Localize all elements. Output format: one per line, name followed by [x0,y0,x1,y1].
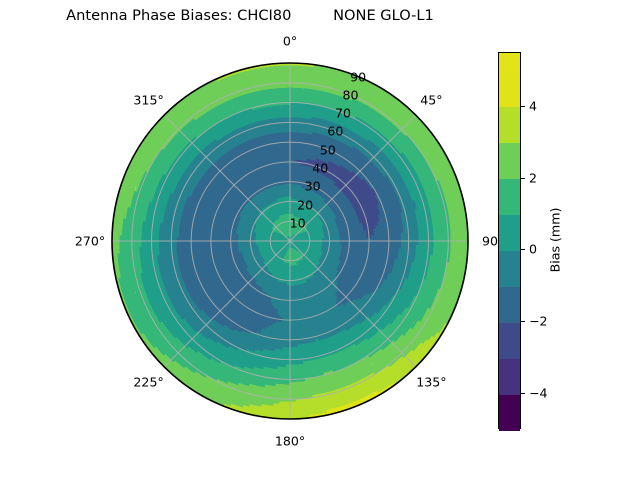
polar-plot[interactable]: 0°45°90135°180°225°270°315° 102030405060… [110,61,470,421]
colorbar-band [499,358,520,395]
colorbar-band [499,394,520,431]
colorbar-tick-label: 4 [529,98,537,113]
colorbar-tick-label: −4 [529,386,548,401]
colorbar-tick-label: 0 [529,242,537,257]
colorbar-band [499,71,520,108]
radial-tick-label-50: 50 [320,142,336,157]
theta-tick-label-135: 135° [416,375,446,390]
radial-tick-label-40: 40 [312,160,328,175]
theta-tick-label-180: 180° [275,434,305,449]
colorbar-band [499,179,520,216]
colorbar-gradient [498,52,521,429]
radial-tick-label-10: 10 [290,215,306,230]
theta-tick-label-90: 90 [482,234,498,249]
colorbar-axis-label: Bias (mm) [548,208,563,273]
colorbar-tick [521,249,525,250]
colorbar-band [499,143,520,180]
colorbar-tick [521,321,525,322]
theta-tick-label-270: 270° [75,234,105,249]
theta-tick-label-45: 45° [420,92,442,107]
polar-contour-svg [110,61,470,421]
radial-tick-label-20: 20 [297,197,313,212]
radial-tick-label-60: 60 [327,124,343,139]
colorbar-band [499,53,520,72]
radial-tick-label-90: 90 [350,69,366,84]
colorbar-band [499,215,520,252]
radial-tick-label-80: 80 [342,87,358,102]
theta-tick-label-315: 315° [133,92,163,107]
polar-gridlines [112,63,468,419]
theta-tick-label-225: 225° [133,375,163,390]
colorbar-band [499,250,520,287]
colorbar[interactable]: 420−2−4 [498,52,521,429]
page-title: Antenna Phase Biases: CHCI80 NONE GLO-L1 [0,7,500,24]
colorbar-tick [521,178,525,179]
radial-tick-label-30: 30 [305,179,321,194]
colorbar-band [499,286,520,323]
radial-tick-label-70: 70 [335,106,351,121]
figure-canvas: Antenna Phase Biases: CHCI80 NONE GLO-L1… [0,0,640,480]
colorbar-band [499,322,520,359]
colorbar-tick-label: 2 [529,170,537,185]
theta-tick-label-0: 0° [283,34,297,49]
colorbar-tick-label: −2 [529,314,548,329]
colorbar-tick [521,393,525,394]
colorbar-tick [521,106,525,107]
colorbar-band [499,107,520,144]
